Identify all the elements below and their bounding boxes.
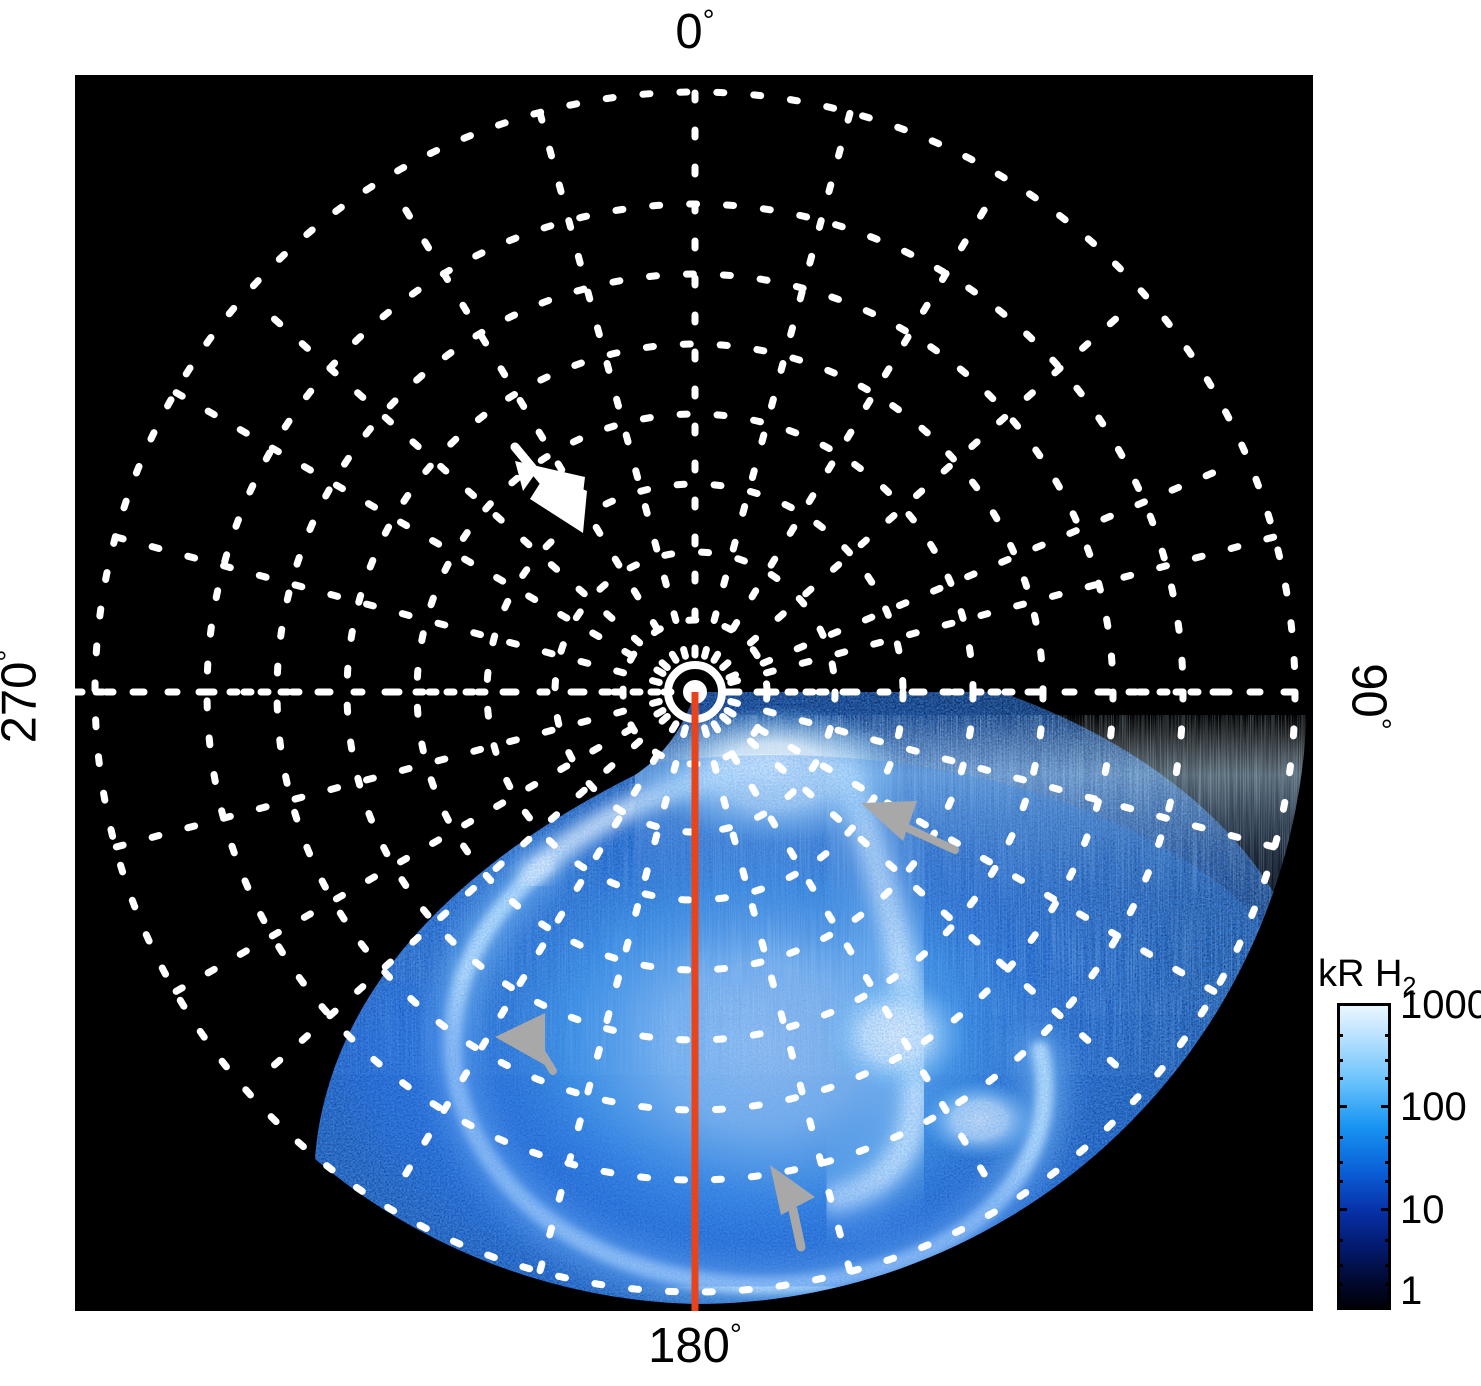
axis-label-left-value: 270 — [0, 662, 47, 744]
colorbar-minor-tick — [1385, 1059, 1391, 1062]
colorbar-minor-tick — [1337, 1161, 1343, 1164]
colorbar-minor-tick — [1385, 1264, 1391, 1267]
colorbar-label-1000: 1000 — [1400, 985, 1481, 1025]
colorbar-minor-tick — [1385, 1077, 1391, 1080]
colorbar-tick — [1337, 1208, 1347, 1211]
axis-label-right-value: 90 — [1342, 663, 1396, 718]
colorbar-tickmarks — [1337, 1003, 1391, 1310]
polar-image-panel — [75, 75, 1313, 1311]
colorbar-minor-tick — [1337, 1136, 1343, 1139]
colorbar-label-10: 10 — [1400, 1190, 1445, 1230]
polar-projection-svg — [75, 75, 1313, 1311]
axis-label-right: 90° — [1344, 617, 1393, 777]
colorbar-tick — [1381, 1208, 1391, 1211]
colorbar-tick — [1337, 1105, 1347, 1108]
axis-label-top-value: 0 — [675, 5, 702, 59]
colorbar-minor-tick — [1337, 1283, 1343, 1286]
colorbar-minor-tick — [1385, 1239, 1391, 1242]
colorbar-minor-tick — [1337, 1034, 1343, 1037]
colorbar-minor-tick — [1337, 1239, 1343, 1242]
degree-symbol-bottom: ° — [730, 1319, 742, 1352]
colorbar-minor-tick — [1337, 1264, 1343, 1267]
degree-symbol-right: ° — [1363, 718, 1396, 730]
colorbar-minor-tick — [1337, 1180, 1343, 1183]
colorbar-minor-tick — [1385, 1034, 1391, 1037]
colorbar-tick — [1381, 1105, 1391, 1108]
degree-symbol-top: ° — [703, 5, 715, 38]
axis-label-bottom-value: 180 — [648, 1319, 730, 1373]
colorbar-minor-tick — [1385, 1180, 1391, 1183]
colorbar: kR H2 1000 100 10 1 — [1318, 955, 1478, 1325]
degree-symbol-left: ° — [0, 650, 25, 662]
axis-label-left: 270° — [0, 617, 45, 777]
colorbar-label-1: 1 — [1400, 1271, 1422, 1311]
colorbar-tick — [1337, 1003, 1347, 1006]
colorbar-tick — [1381, 1003, 1391, 1006]
axis-label-top: 0° — [0, 8, 1390, 57]
colorbar-minor-tick — [1385, 1136, 1391, 1139]
colorbar-title-main: kR H — [1318, 953, 1402, 995]
colorbar-minor-tick — [1337, 1077, 1343, 1080]
colorbar-minor-tick — [1385, 1283, 1391, 1286]
colorbar-label-100: 100 — [1400, 1087, 1467, 1127]
colorbar-minor-tick — [1385, 1161, 1391, 1164]
axis-label-bottom: 180° — [0, 1322, 1390, 1371]
colorbar-minor-tick — [1337, 1059, 1343, 1062]
